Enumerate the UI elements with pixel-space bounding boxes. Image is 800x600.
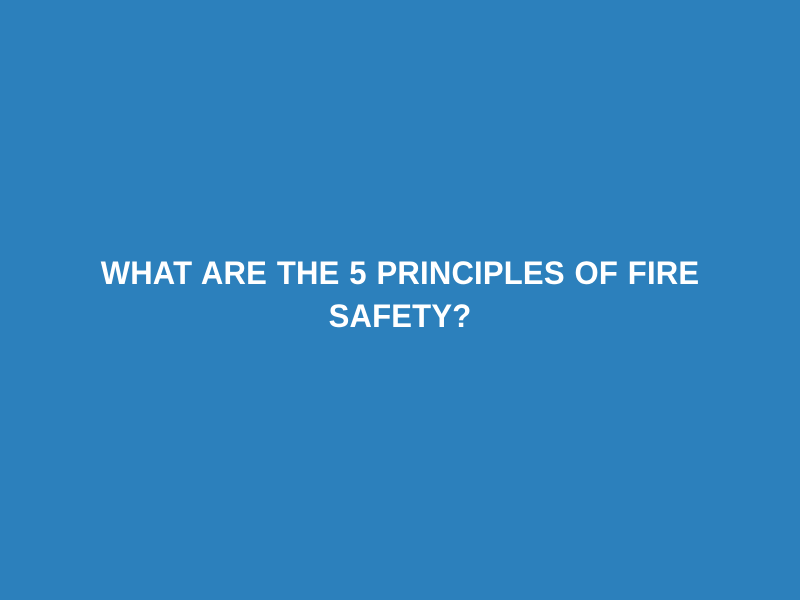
- hero-banner: WHAT ARE THE 5 PRINCIPLES OF FIRE SAFETY…: [0, 0, 800, 600]
- page-title: WHAT ARE THE 5 PRINCIPLES OF FIRE SAFETY…: [90, 252, 711, 338]
- title-block: WHAT ARE THE 5 PRINCIPLES OF FIRE SAFETY…: [80, 252, 720, 338]
